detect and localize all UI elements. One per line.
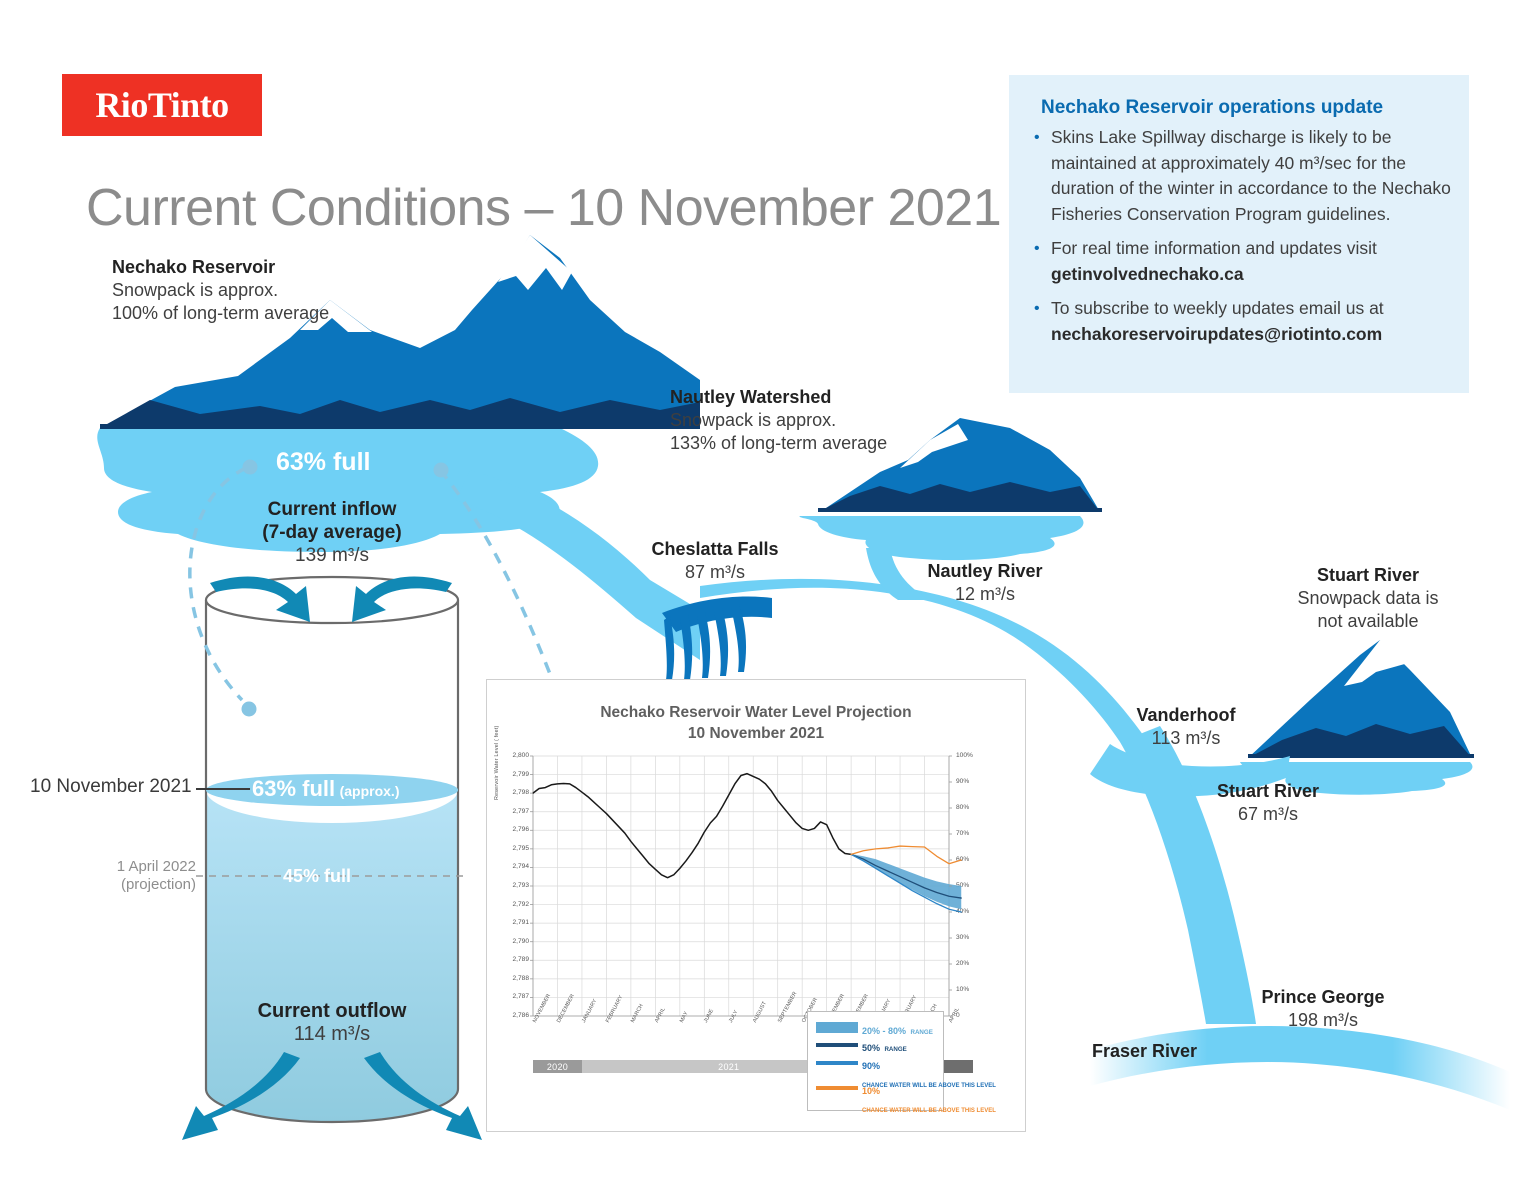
legend-swatch-10 xyxy=(816,1086,858,1090)
stuart-snowpack-line1: Snowpack data is xyxy=(1297,588,1438,608)
projection-level-value: 45% full xyxy=(283,866,351,887)
email-link[interactable]: nechakoreservoirupdates@riotinto.com xyxy=(1051,324,1382,344)
chart-legend: 20% - 80% RANGE 50% RANGE 90% CHANCE WAT… xyxy=(807,1011,944,1111)
inflow-subtitle: (7-day average) xyxy=(202,521,462,544)
outflow-value: 114 m³/s xyxy=(294,1023,370,1045)
current-level-date: 10 November 2021 xyxy=(30,776,192,798)
lake-fill-percent-label: 63% full xyxy=(276,448,370,477)
operations-bullet-spillway: Skins Lake Spillway discharge is likely … xyxy=(1051,125,1453,227)
legend-90-value: 90% xyxy=(862,1061,880,1071)
current-level-readout: 63% full (approx.) xyxy=(252,776,399,802)
nechako-snowpack-line2: 100% of long-term average xyxy=(112,303,329,323)
bullet-text-2: For real time information and updates vi… xyxy=(1051,238,1377,258)
legend-10-suffix: CHANCE WATER WILL BE ABOVE THIS LEVEL xyxy=(862,1108,996,1114)
projection-date-line1: 1 April 2022 xyxy=(117,858,196,875)
chart-subtitle: 10 November 2021 xyxy=(688,725,824,742)
nautley-snowpack-line2: 133% of long-term average xyxy=(670,433,887,453)
prince-george-label: Prince George 198 m³/s xyxy=(1230,986,1416,1032)
nechako-reservoir-name: Nechako Reservoir xyxy=(112,256,329,279)
inflow-title: Current inflow xyxy=(202,498,462,521)
chart-title: Nechako Reservoir Water Level Projection xyxy=(600,704,911,721)
callout-dot-1 xyxy=(243,460,258,475)
stuart-river-label: Stuart River 67 m³/s xyxy=(1180,780,1356,826)
chart-year-band: 2020 xyxy=(533,1060,582,1073)
callout-dot-3 xyxy=(434,463,449,478)
current-level-value: 63% full xyxy=(252,776,335,801)
legend-50-value: 50% xyxy=(862,1043,880,1053)
fraser-river-label: Fraser River xyxy=(1092,1040,1197,1063)
vanderhoof-value: 113 m³/s xyxy=(1152,728,1221,748)
current-outflow-label: Current outflow 114 m³/s xyxy=(212,1000,452,1046)
legend-band-suffix: RANGE xyxy=(910,1029,932,1036)
outflow-title: Current outflow xyxy=(212,1000,452,1023)
nautley-snowpack-line1: Snowpack is approx. xyxy=(670,410,836,430)
chart-title-block: Nechako Reservoir Water Level Projection… xyxy=(487,702,1025,744)
chart-plot-wrapper: 2,8002,7992,7982,7972,7962,7952,7942,793… xyxy=(487,748,1025,1058)
nautley-watershed-name: Nautley Watershed xyxy=(670,386,887,409)
prince-george-name: Prince George xyxy=(1230,986,1416,1009)
operations-bullet-email: To subscribe to weekly updates email us … xyxy=(1051,296,1453,347)
nautley-watershed-label: Nautley Watershed Snowpack is approx. 13… xyxy=(670,386,887,455)
prince-george-value: 198 m³/s xyxy=(1288,1010,1358,1030)
stuart-river-name: Stuart River xyxy=(1180,780,1356,803)
projection-date-label: 1 April 2022 (projection) xyxy=(100,858,196,894)
cheslatta-falls-label: Cheslatta Falls 87 m³/s xyxy=(620,538,810,584)
operations-update-panel: Nechako Reservoir operations update Skin… xyxy=(1009,75,1469,393)
nautley-river-label: Nautley River 12 m³/s xyxy=(890,560,1080,606)
legend-50-suffix: RANGE xyxy=(884,1046,906,1053)
current-inflow-label: Current inflow (7-day average) 139 m³/s xyxy=(202,498,462,567)
fraser-river-name: Fraser River xyxy=(1092,1040,1197,1063)
bullet-text-1: Skins Lake Spillway discharge is likely … xyxy=(1051,127,1451,224)
stuart-shore-line xyxy=(1248,754,1474,758)
cylinder-water-fill xyxy=(206,790,458,1122)
operations-bullet-website: For real time information and updates vi… xyxy=(1051,236,1453,287)
projection-date-line2: (projection) xyxy=(121,876,196,893)
nechako-reservoir-label: Nechako Reservoir Snowpack is approx. 10… xyxy=(112,256,329,325)
callout-dot-2 xyxy=(242,702,257,717)
logo-text: RioTinto xyxy=(95,84,228,126)
cheslatta-falls-name: Cheslatta Falls xyxy=(620,538,810,561)
fraser-river-shape xyxy=(1090,1026,1510,1110)
water-level-projection-chart: Nechako Reservoir Water Level Projection… xyxy=(486,679,1026,1132)
page-title: Current Conditions – 10 November 2021 xyxy=(86,178,1001,238)
legend-swatch-50 xyxy=(816,1043,858,1047)
legend-band-value: 20% - 80% xyxy=(862,1026,906,1036)
operations-update-heading: Nechako Reservoir operations update xyxy=(1041,97,1383,119)
current-level-approx: (approx.) xyxy=(340,783,400,799)
nautley-river-name: Nautley River xyxy=(890,560,1080,583)
legend-label-band: 20% - 80% RANGE xyxy=(862,1021,933,1039)
vanderhoof-name: Vanderhoof xyxy=(1108,704,1264,727)
stuart-watershed-label: Stuart River Snowpack data is not availa… xyxy=(1268,564,1468,633)
stuart-river-value: 67 m³/s xyxy=(1238,804,1298,824)
website-link[interactable]: getinvolvednechako.ca xyxy=(1051,264,1244,284)
stuart-snowpack-line2: not available xyxy=(1317,611,1418,631)
legend-label-50: 50% RANGE xyxy=(862,1038,907,1056)
rio-tinto-logo: RioTinto xyxy=(62,74,262,136)
nechako-shore-line xyxy=(100,424,700,429)
operations-update-list: Skins Lake Spillway discharge is likely … xyxy=(1029,125,1453,356)
nautley-river-value: 12 m³/s xyxy=(955,584,1015,604)
legend-swatch-band xyxy=(816,1022,858,1033)
cheslatta-falls-value: 87 m³/s xyxy=(685,562,745,582)
nautley-shore-line xyxy=(818,508,1102,512)
nautley-lake-shape xyxy=(799,516,1083,560)
bullet-text-3: To subscribe to weekly updates email us … xyxy=(1051,298,1384,318)
inflow-value: 139 m³/s xyxy=(295,545,369,566)
stuart-watershed-name: Stuart River xyxy=(1268,564,1468,587)
vanderhoof-label: Vanderhoof 113 m³/s xyxy=(1108,704,1264,750)
legend-label-10: 10% CHANCE WATER WILL BE ABOVE THIS LEVE… xyxy=(862,1081,996,1117)
nechako-snowpack-line1: Snowpack is approx. xyxy=(112,280,278,300)
legend-10-value: 10% xyxy=(862,1086,880,1096)
legend-swatch-90 xyxy=(816,1061,858,1065)
